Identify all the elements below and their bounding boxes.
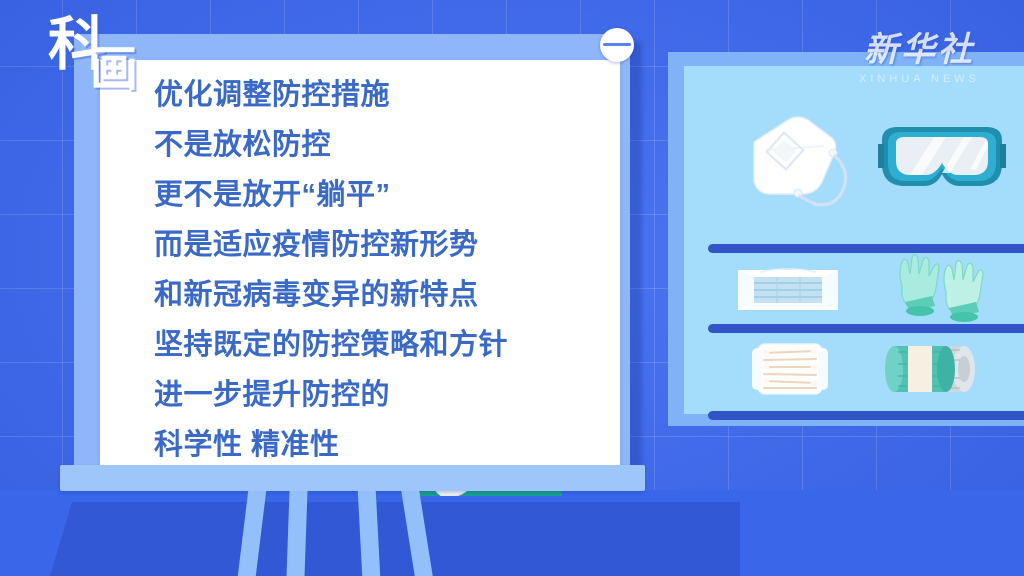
- whiteboard-tray: [60, 465, 645, 491]
- board-line-7: 进一步提升防控的: [154, 370, 584, 420]
- whiteboard-leg-2: [287, 491, 308, 576]
- board-line-8: 科学性 精准性: [154, 420, 584, 470]
- platform: [50, 502, 740, 576]
- supply-cabinet: [668, 52, 1024, 426]
- medical-gloves-icon: [892, 252, 984, 329]
- board-line-4: 而是适应疫情防控新形势: [154, 220, 584, 270]
- board-line-6: 坚持既定的防控策略和方针: [154, 320, 584, 370]
- n95-mask-icon: [736, 108, 854, 221]
- cabinet-inner-panel: [684, 66, 1024, 414]
- whiteboard: 优化调整防控措施 不是放松防控 更不是放开“躺平” 而是适应疫情防控新形势 和新…: [74, 34, 634, 474]
- board-line-5: 和新冠病毒变异的新特点: [154, 270, 584, 320]
- cotton-swab-jar-icon: [746, 338, 834, 405]
- safety-goggles-icon: [876, 118, 1008, 207]
- bandage-rolls-icon: [884, 340, 986, 403]
- whiteboard-knob-icon[interactable]: [600, 28, 634, 62]
- shelf-bar-3: [708, 411, 1024, 420]
- board-line-1: 优化调整防控措施: [154, 70, 584, 120]
- shelf-bar-2: [708, 324, 1024, 333]
- scene-root: 优化调整防控措施 不是放松防控 更不是放开“躺平” 而是适应疫情防控新形势 和新…: [0, 0, 1024, 576]
- board-line-2: 不是放松防控: [154, 120, 584, 170]
- whiteboard-text-block: 优化调整防控措施 不是放松防控 更不是放开“躺平” 而是适应疫情防控新形势 和新…: [154, 70, 584, 470]
- board-line-3: 更不是放开“躺平”: [154, 170, 584, 220]
- surgical-mask-icon: [734, 264, 842, 321]
